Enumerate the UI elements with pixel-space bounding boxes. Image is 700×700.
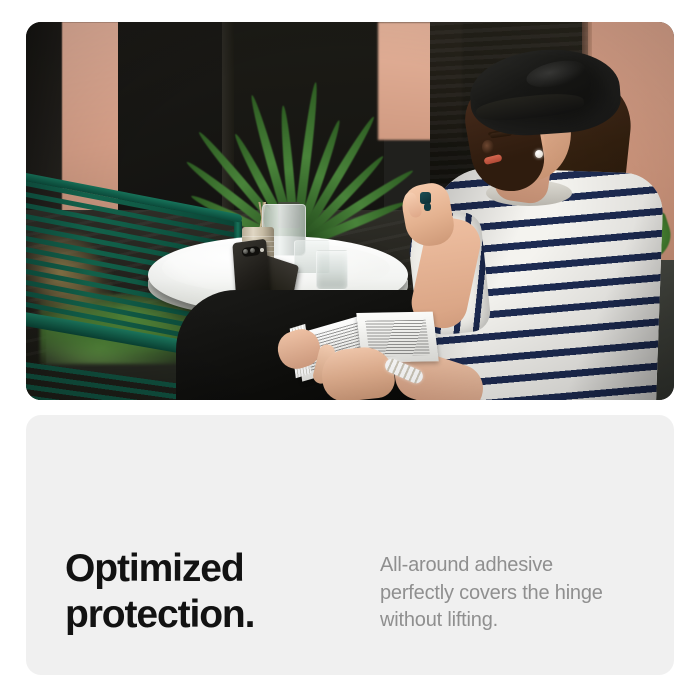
- feature-headline: Optimized protection.: [65, 546, 380, 638]
- feature-info-card: Optimized protection. All-around adhesiv…: [26, 415, 674, 675]
- feature-description: All-around adhesive perfectly covers the…: [380, 546, 628, 635]
- lifestyle-product-photo: [26, 22, 674, 400]
- product-feature-page: Optimized protection. All-around adhesiv…: [0, 0, 700, 700]
- card-content: Optimized protection. All-around adhesiv…: [65, 546, 628, 638]
- held-small-object-tip: [424, 203, 431, 211]
- nose: [482, 140, 494, 154]
- pearl-earring: [535, 150, 543, 158]
- seated-woman: [26, 22, 674, 400]
- photo-scene: [26, 22, 674, 400]
